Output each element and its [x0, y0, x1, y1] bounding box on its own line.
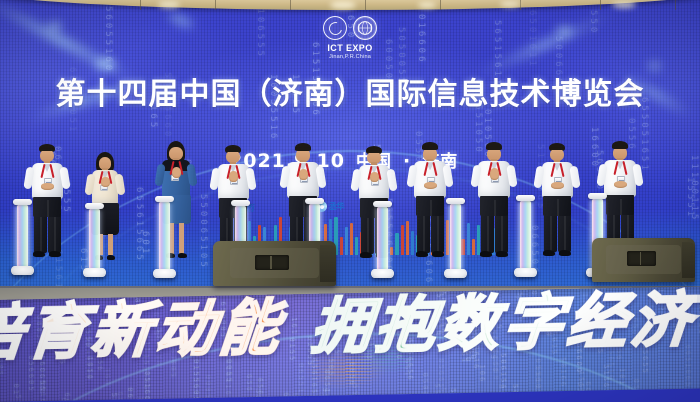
pillar-base — [83, 268, 106, 277]
pillar-top-cap[interactable] — [446, 198, 465, 204]
rain-column: 16600 — [588, 127, 599, 169]
pillar-top-cap[interactable] — [13, 199, 32, 205]
pillar-base — [153, 269, 176, 278]
pillar-base — [371, 269, 394, 278]
stage-monitor-speaker — [592, 238, 695, 282]
shoe — [49, 251, 61, 257]
event-main-title: 第十四届中国（济南）国际信息技术博览会 — [0, 78, 700, 112]
launch-pillar-front[interactable] — [446, 198, 465, 278]
shoe — [178, 253, 187, 258]
shoe — [496, 251, 508, 257]
pillar-light-column — [377, 207, 388, 272]
pillar-light-column — [450, 204, 461, 272]
ceiling-lamp — [612, 1, 636, 8]
hair-fringe — [612, 145, 627, 149]
expo-logo-subtext: Jinan,P.R.China — [0, 53, 700, 61]
pillar-base — [444, 269, 467, 278]
pillar-light-column — [17, 205, 28, 269]
speaker-handle — [627, 251, 656, 266]
pillar-top-cap[interactable] — [85, 203, 104, 209]
hips — [543, 196, 571, 216]
hips — [606, 195, 634, 215]
hands — [41, 183, 54, 190]
ict-expo-emblem — [323, 16, 347, 40]
slogan-part-1: 培育新动能 — [0, 293, 286, 369]
pillar-light-column — [520, 201, 531, 271]
pillar-light-column — [159, 202, 170, 272]
leg — [108, 234, 113, 255]
shoe — [33, 251, 45, 257]
hands — [490, 168, 499, 179]
bar — [401, 225, 404, 255]
bar — [350, 223, 353, 255]
globe-laurel-emblem — [353, 16, 377, 40]
shoe — [432, 251, 444, 257]
ceiling-lamp — [500, 1, 520, 7]
chenghua-logo-text: 丞华 — [329, 201, 344, 212]
hair-fringe — [226, 149, 241, 153]
hands — [370, 172, 379, 183]
bar — [340, 237, 343, 255]
pillar-top-cap[interactable] — [305, 198, 324, 204]
shoe — [543, 250, 555, 256]
photo-canvas: 6156116560556055160100555161555505505565… — [0, 0, 700, 402]
speaker-handle — [255, 255, 289, 270]
hands — [424, 182, 437, 189]
hands — [229, 171, 238, 182]
hands — [172, 167, 181, 178]
bar — [472, 239, 475, 255]
hips — [33, 197, 61, 217]
pillar-top-cap[interactable] — [516, 195, 535, 201]
launch-pillar-front[interactable] — [13, 199, 32, 275]
emblem-pair — [0, 16, 700, 40]
hair-fringe — [295, 147, 310, 151]
hair-fringe — [367, 150, 382, 154]
bar — [406, 221, 409, 255]
bar — [345, 227, 348, 255]
shoe — [360, 252, 372, 258]
hair-fringe — [550, 147, 565, 151]
speaker-side — [320, 245, 336, 283]
pillar-base — [514, 268, 537, 277]
bar — [467, 223, 470, 255]
leg — [179, 223, 184, 254]
ceiling-lamp — [418, 2, 436, 8]
expo-logo-text: ICT EXPO — [0, 43, 700, 53]
bar — [395, 233, 398, 255]
bar — [477, 225, 480, 255]
pillar-top-cap[interactable] — [588, 193, 607, 199]
shoe — [559, 250, 571, 256]
pillar-top-cap[interactable] — [373, 201, 392, 207]
expo-logo-block: ICT EXPO Jinan,P.R.China — [0, 16, 700, 61]
launch-pillar-front[interactable] — [155, 196, 174, 278]
shoe — [107, 255, 115, 260]
pillar-light-column — [89, 209, 100, 271]
ceiling-lamp — [330, 1, 356, 9]
hair-fringe — [40, 148, 55, 152]
hands — [551, 182, 564, 189]
hips — [480, 196, 508, 216]
shoe — [416, 251, 428, 257]
launch-pillar-front[interactable] — [516, 195, 535, 277]
hands — [299, 169, 308, 180]
bar — [411, 231, 414, 255]
stage-slogan: 培育新动能拥抱数字经济 — [0, 287, 700, 366]
speaker-side — [682, 242, 695, 279]
pillar-top-cap[interactable] — [155, 196, 174, 202]
hair-fringe — [486, 146, 501, 150]
launch-pillar-front[interactable] — [85, 203, 104, 277]
ceiling-lamp — [158, 1, 180, 8]
hands — [614, 181, 627, 188]
pillar-base — [11, 266, 34, 275]
stage-monitor-speaker — [213, 241, 336, 286]
shoe — [480, 251, 492, 257]
hair-fringe — [422, 146, 437, 150]
pillar-top-cap[interactable] — [231, 200, 250, 206]
hands — [101, 177, 110, 188]
launch-pillar-front[interactable] — [373, 201, 392, 278]
hips — [416, 196, 444, 216]
bar — [355, 237, 358, 255]
slogan-part-2: 拥抱数字经济 — [308, 285, 698, 362]
rain-column: 651 — [696, 164, 700, 189]
